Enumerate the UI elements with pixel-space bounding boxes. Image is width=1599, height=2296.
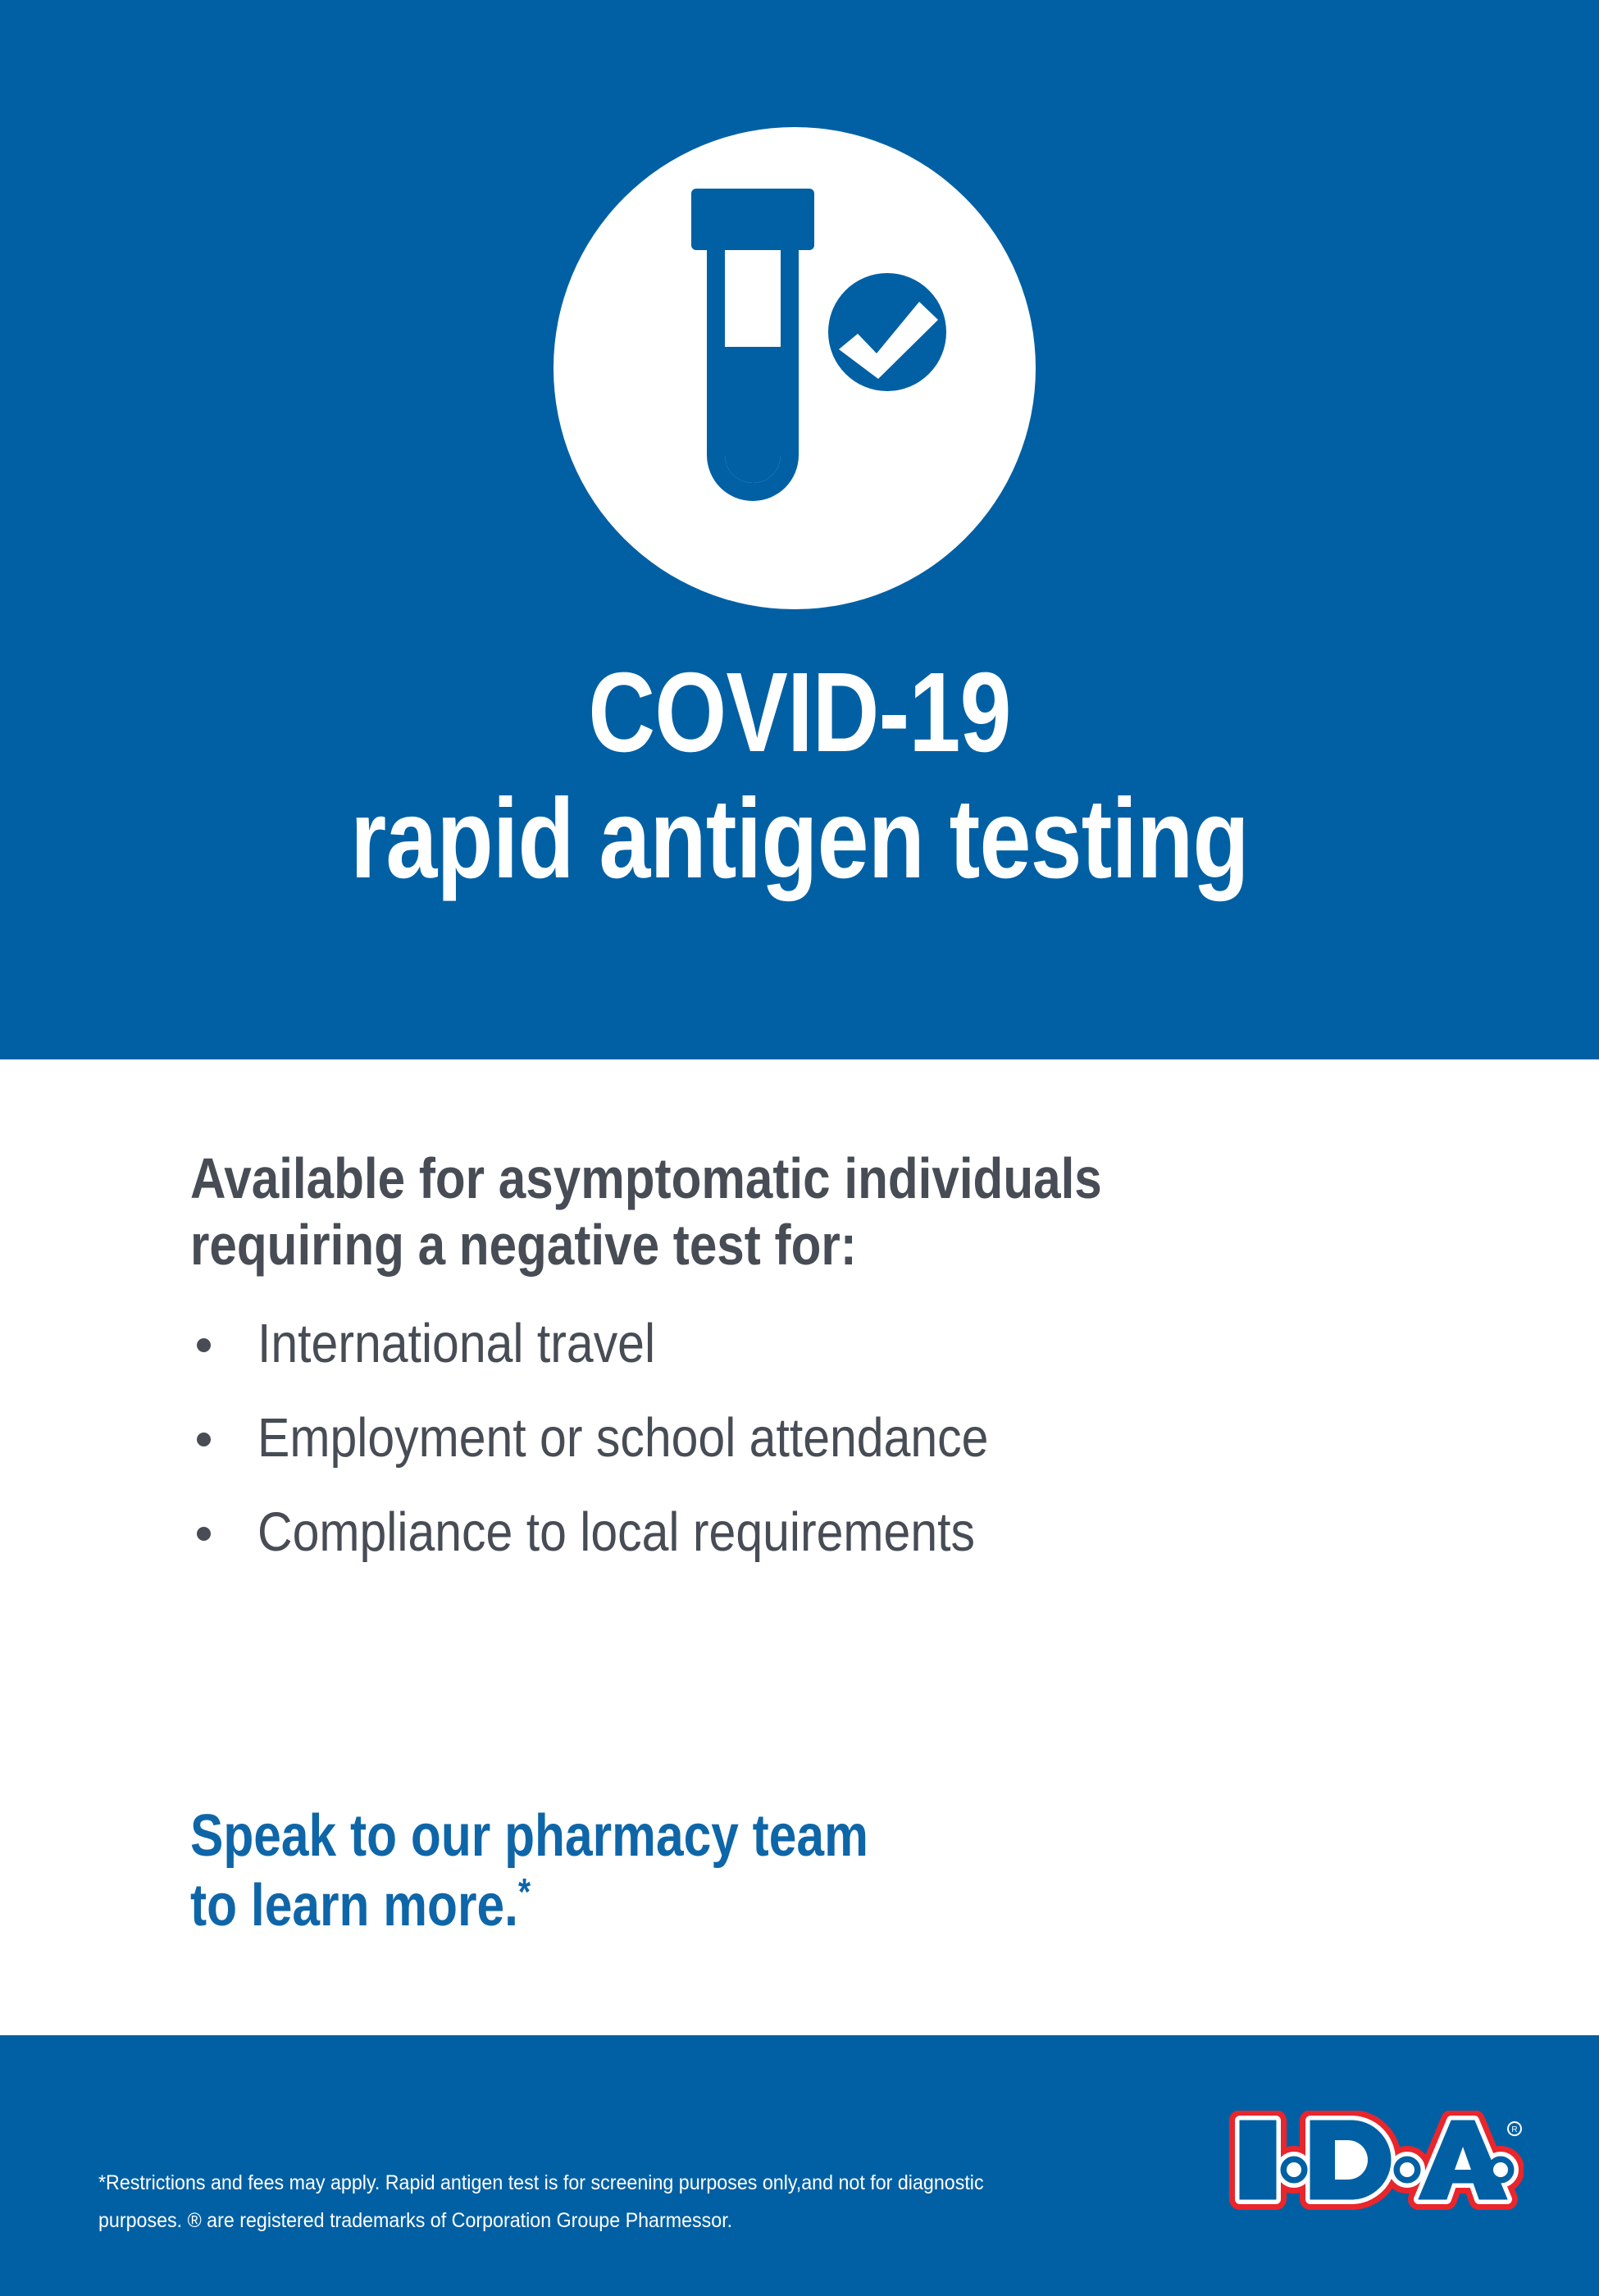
list-item: Employment or school attendance <box>190 1410 1543 1465</box>
list-item: Compliance to local requirements <box>190 1505 1543 1560</box>
title-line-rapid-antigen-testing: rapid antigen testing <box>144 782 1455 895</box>
list-item: International travel <box>190 1316 1543 1371</box>
title-line-covid: COVID-19 <box>144 656 1455 769</box>
list-item-label: Employment or school attendance <box>257 1410 988 1465</box>
call-to-action: Speak to our pharmacy team to learn more… <box>190 1802 997 1941</box>
cta-line-2-wrapper: to learn more.* <box>190 1871 868 1941</box>
availability-heading: Available for asymptomatic individuals r… <box>190 1146 1319 1278</box>
legal-disclaimer: *Restrictions and fees may apply. Rapid … <box>98 2164 943 2240</box>
body-section: Available for asymptomatic individuals r… <box>0 1059 1599 2035</box>
eligibility-bullet-list: International travel Employment or schoo… <box>190 1316 1543 1599</box>
registered-trademark-icon: R <box>1508 2122 1521 2135</box>
ida-logo: R <box>1228 2111 1524 2217</box>
cta-line-1: Speak to our pharmacy team <box>190 1802 868 1871</box>
poster-title: COVID-19 rapid antigen testing <box>0 656 1599 895</box>
bullet-dot-icon <box>197 1527 211 1541</box>
legal-disclaimer-line-1: *Restrictions and fees may apply. Rapid … <box>98 2164 884 2202</box>
cta-asterisk: * <box>518 1870 531 1913</box>
availability-heading-line-2: requiring a negative test for: <box>190 1212 1319 1278</box>
cta-line-2: to learn more. <box>190 1873 518 1938</box>
header-band: COVID-19 rapid antigen testing <box>0 0 1599 1059</box>
svg-text:R: R <box>1511 2125 1517 2134</box>
test-tube-check-icon <box>553 127 1036 609</box>
bullet-dot-icon <box>197 1433 211 1446</box>
poster-canvas: COVID-19 rapid antigen testing Available… <box>0 0 1599 2296</box>
list-item-label: Compliance to local requirements <box>257 1505 975 1560</box>
legal-disclaimer-line-2: purposes. ® are registered trademarks of… <box>98 2202 884 2239</box>
bullet-dot-icon <box>197 1338 211 1352</box>
availability-heading-line-1: Available for asymptomatic individuals <box>190 1146 1319 1212</box>
footer-band: *Restrictions and fees may apply. Rapid … <box>0 2035 1599 2296</box>
list-item-label: International travel <box>257 1316 655 1371</box>
